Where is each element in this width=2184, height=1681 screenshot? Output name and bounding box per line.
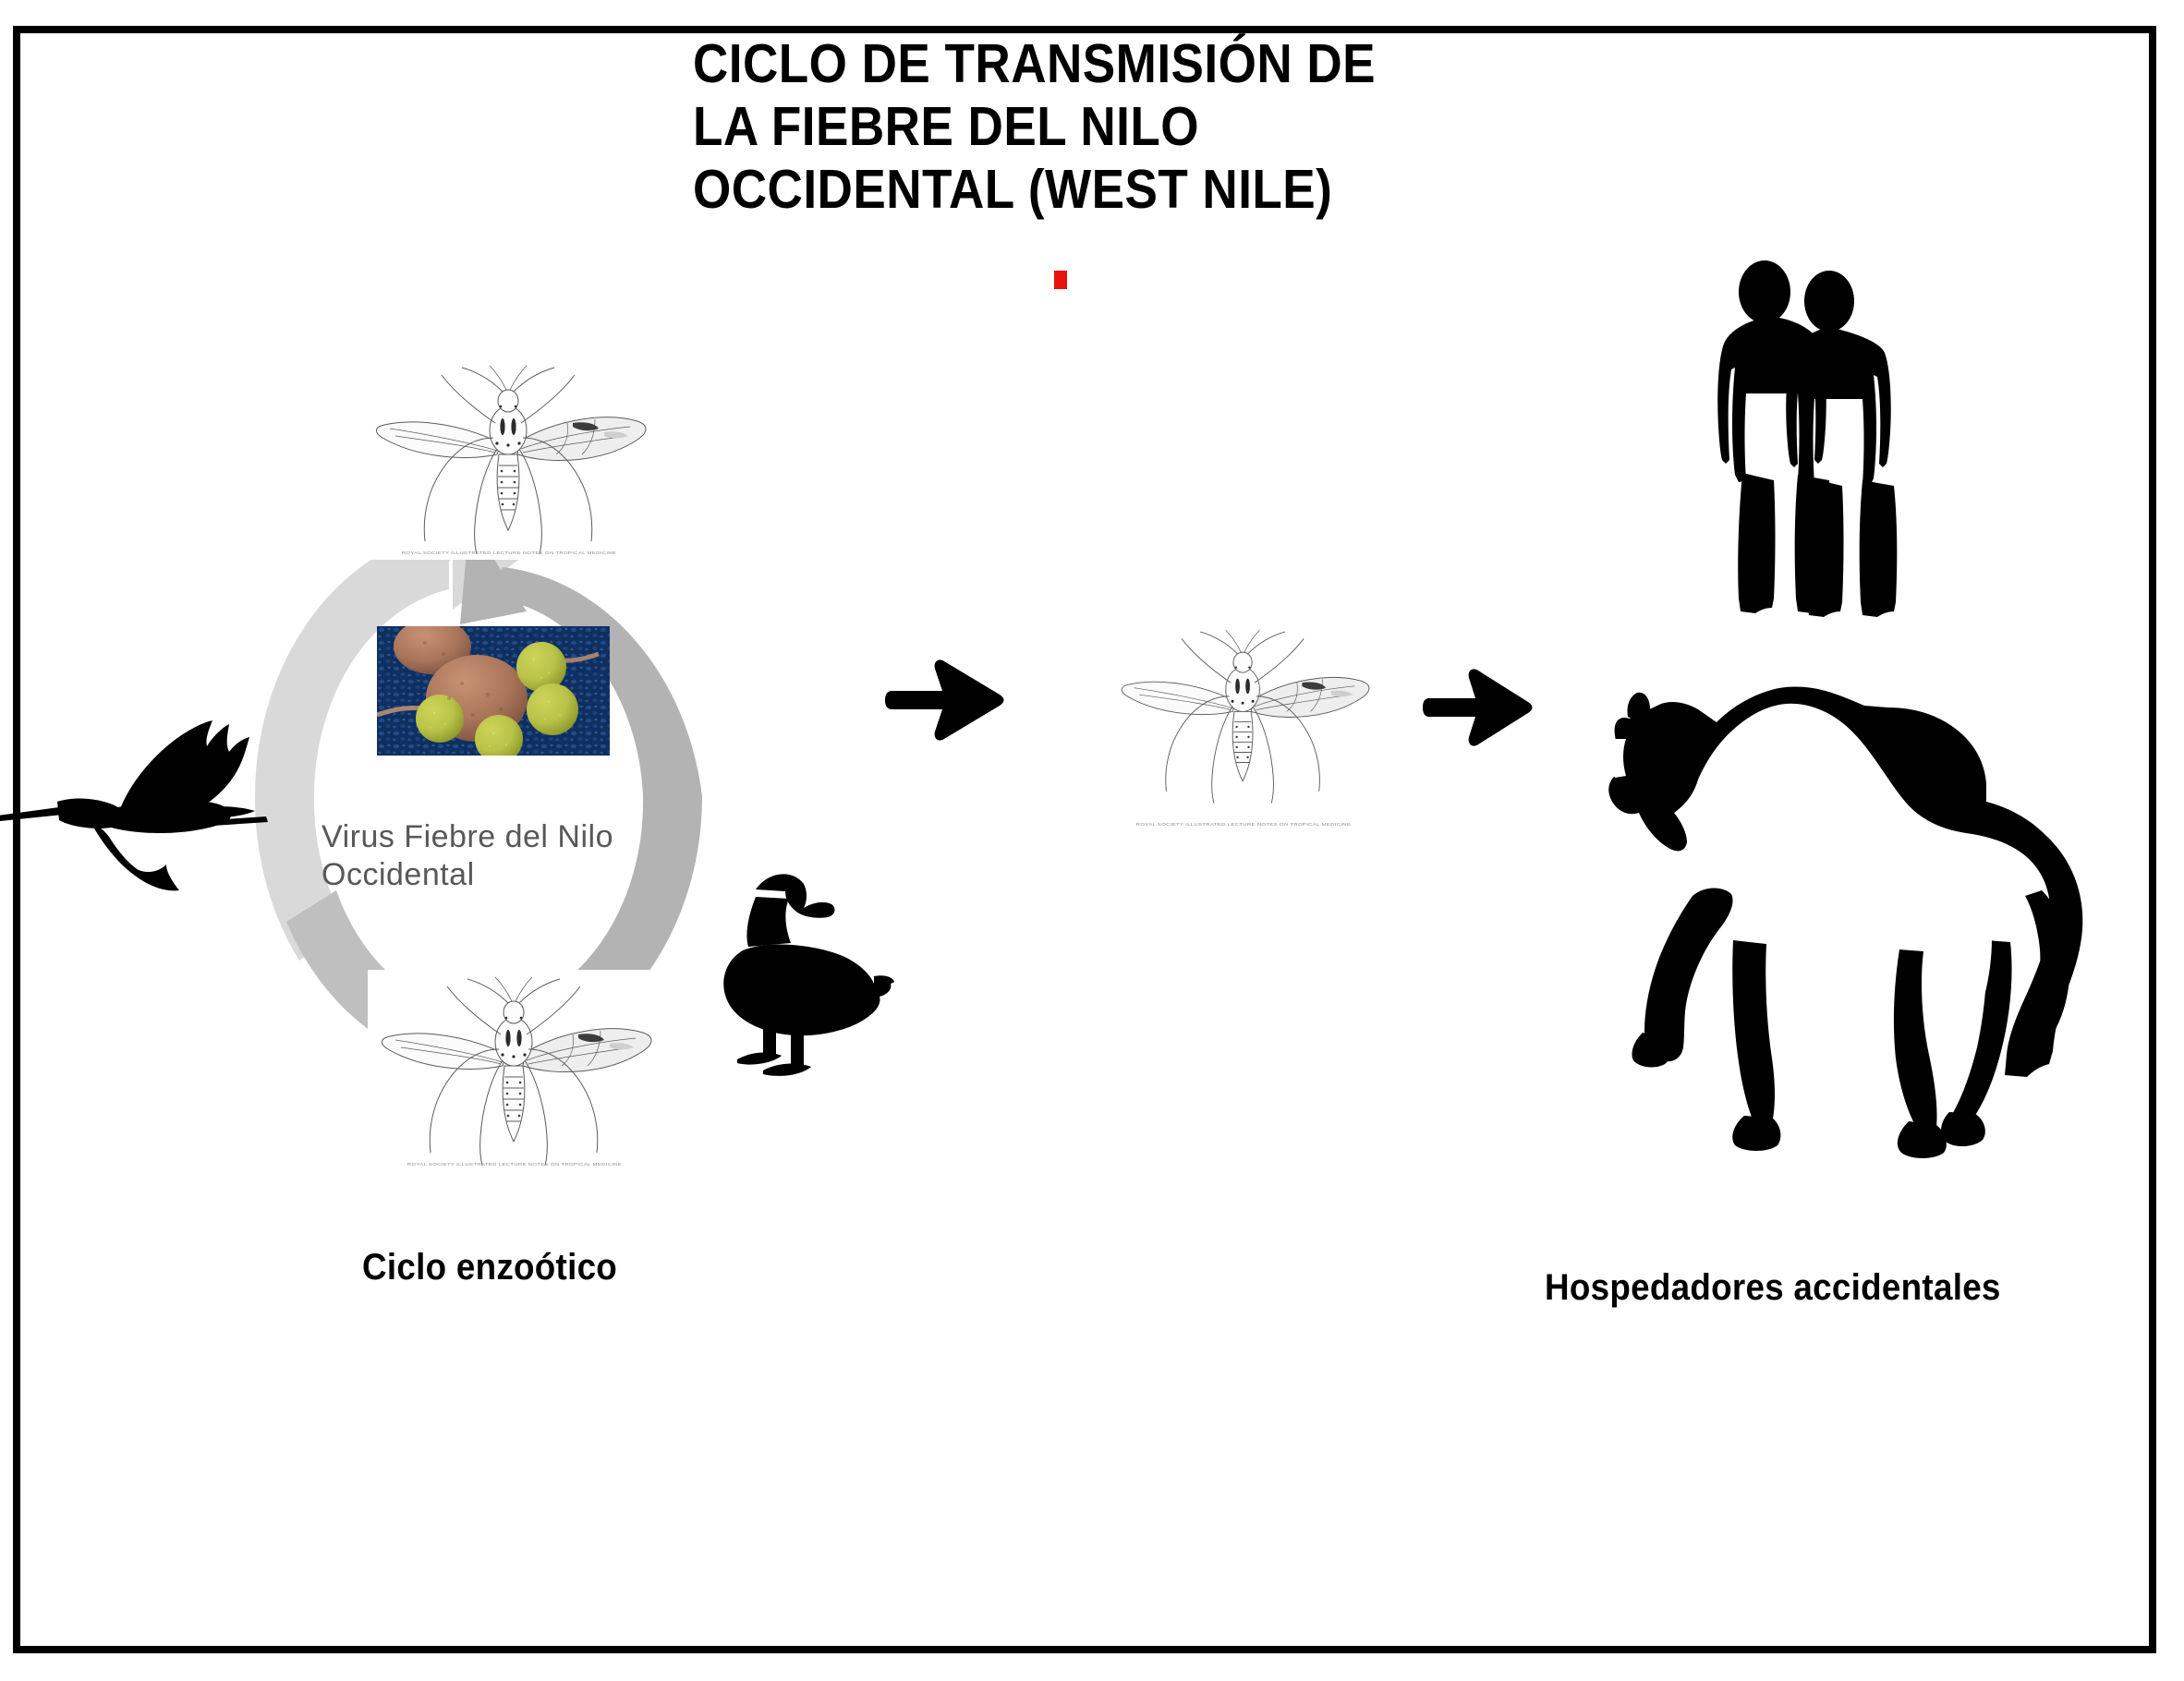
- red-square-mark: [1054, 271, 1067, 289]
- accidental-hosts-caption: Hospedadores accidentales: [1545, 1267, 2001, 1309]
- virus-micrograph-image: [377, 626, 610, 756]
- duck-silhouette: [711, 854, 915, 1085]
- arrow-right-icon: [885, 656, 1005, 744]
- people-silhouette: [1698, 255, 1898, 624]
- enzootic-cycle-caption: Ciclo enzoótico: [362, 1247, 617, 1288]
- horse-silhouette: [1587, 663, 2086, 1162]
- arrow-right-icon: [1423, 665, 1534, 750]
- mosquito-credit-text: ROYAL SOCIETY ILLUSTRATED LECTURE NOTES …: [1109, 823, 1378, 828]
- mosquito-illustration-middle: ROYAL SOCIETY ILLUSTRATED LECTURE NOTES …: [1109, 600, 1378, 831]
- heron-silhouette: [0, 663, 268, 894]
- mosquito-credit-text: ROYAL SOCIETY ILLUSTRATED LECTURE NOTES …: [368, 1163, 661, 1167]
- virus-label: Virus Fiebre del Nilo Occidental: [322, 818, 756, 895]
- mosquito-illustration-top: ROYAL SOCIETY ILLUSTRATED LECTURE NOTES …: [362, 358, 656, 560]
- page-title: CICLO DE TRANSMISIÓN DE LA FIEBRE DEL NI…: [693, 33, 1524, 222]
- mosquito-credit-text: ROYAL SOCIETY ILLUSTRATED LECTURE NOTES …: [362, 551, 656, 556]
- mosquito-illustration-bottom: ROYAL SOCIETY ILLUSTRATED LECTURE NOTES …: [368, 970, 661, 1171]
